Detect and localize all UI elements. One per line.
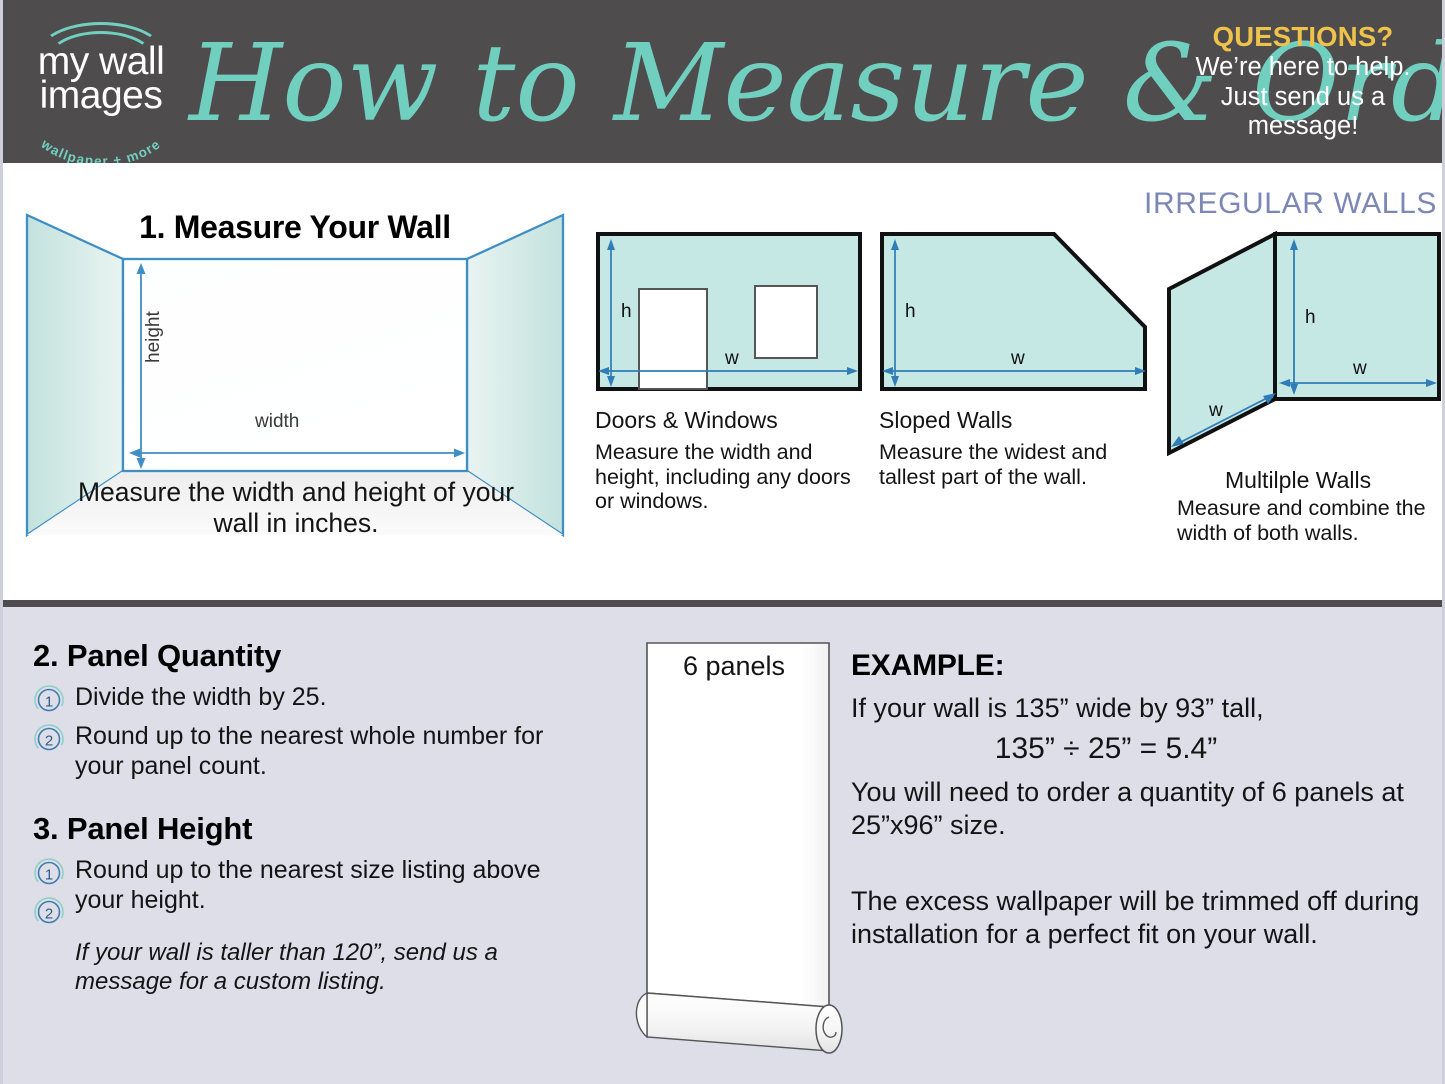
steps-2-and-3: 2. Panel Quantity 1 Divide the width by … xyxy=(33,639,593,997)
doors-windows-diagram-icon: h w xyxy=(595,231,863,401)
top-section: 1. Measure Your Wall height width Measur… xyxy=(3,163,1442,600)
svg-text:wallpaper + more: wallpaper + more xyxy=(38,136,164,163)
irregular-walls-heading: IRREGULAR WALLS xyxy=(1144,187,1437,221)
step-1-height-label: height xyxy=(143,311,165,363)
step-1-title: 1. Measure Your Wall xyxy=(19,209,571,246)
example-paragraph-1: You will need to order a quantity of 6 p… xyxy=(851,776,1421,841)
number-badge-icon: 2 xyxy=(33,896,65,928)
logo-line-2: images xyxy=(21,76,181,115)
multiple-walls-h-label: h xyxy=(1305,307,1316,328)
list-item: 2 xyxy=(33,894,593,928)
example-line-1: If your wall is 135” wide by 93” tall, xyxy=(851,692,1421,724)
step-3-note: If your wall is taller than 120”, send u… xyxy=(75,938,593,997)
header-bar: my wall images wallpaper + more How to M… xyxy=(3,0,1445,163)
spacer xyxy=(33,786,593,812)
page-title: How to Measure & Order xyxy=(189,8,1179,153)
irregular-walls-group: IRREGULAR WALLS xyxy=(583,179,1443,569)
step-2-list: 1 Divide the width by 25. 2 Round up to … xyxy=(33,682,593,781)
list-item: 2 Round up to the nearest whole number f… xyxy=(33,721,593,781)
multiple-walls-w-front-label: w xyxy=(1352,358,1367,379)
step-2-title: 2. Panel Quantity xyxy=(33,639,593,673)
multiple-walls-w-side-label: w xyxy=(1208,400,1223,421)
irregular-card-title: Doors & Windows xyxy=(595,407,863,434)
irregular-card-desc: Measure the width and height, including … xyxy=(595,440,863,514)
irregular-card-multiple-walls: h w w Multilple Walls Measure and combin… xyxy=(1163,231,1443,545)
logo-tagline: wallpaper + more xyxy=(21,125,181,155)
example-equation: 135” ÷ 25” = 5.4” xyxy=(851,732,1421,766)
irregular-card-desc: Measure and combine the width of both wa… xyxy=(1177,496,1443,545)
sloped-wall-w-label: w xyxy=(1010,348,1025,369)
irregular-card-title: Sloped Walls xyxy=(879,407,1151,434)
brand-logo: my wall images wallpaper + more xyxy=(21,22,181,150)
wallpaper-roll-icon xyxy=(633,637,863,1067)
section-divider xyxy=(3,600,1442,607)
questions-body: We’re here to help. Just send us a messa… xyxy=(1174,53,1432,142)
step-1-width-label: width xyxy=(255,411,299,433)
number-badge-icon: 1 xyxy=(33,684,65,716)
number-badge-value: 1 xyxy=(45,867,53,884)
roll-panel-count-label: 6 panels xyxy=(633,651,835,682)
irregular-card-doors-windows: h w Doors & Windows Measure the width an… xyxy=(595,231,863,514)
step-3-list: 1 Round up to the nearest size listing a… xyxy=(33,855,593,928)
number-badge-value: 2 xyxy=(45,733,53,750)
number-badge-icon: 2 xyxy=(33,723,65,755)
spacer xyxy=(851,841,1421,875)
multiple-walls-diagram-icon: h w w xyxy=(1163,231,1443,461)
example-block: EXAMPLE: If your wall is 135” wide by 93… xyxy=(851,649,1421,950)
example-paragraph-2: The excess wallpaper will be trimmed off… xyxy=(851,885,1421,950)
questions-block: QUESTIONS? We’re here to help. Just send… xyxy=(1174,22,1432,142)
number-badge-value: 1 xyxy=(45,694,53,711)
logo-tagline-text: wallpaper + more xyxy=(38,136,164,163)
sloped-wall-diagram-icon: h w xyxy=(879,231,1151,401)
doors-windows-w-label: w xyxy=(724,348,739,369)
questions-heading: QUESTIONS? xyxy=(1174,22,1432,52)
irregular-card-sloped-walls: h w Sloped Walls Measure the widest and … xyxy=(879,231,1151,489)
list-item-text: Divide the width by 25. xyxy=(75,682,593,712)
irregular-card-desc: Measure the widest and tallest part of t… xyxy=(879,440,1151,489)
number-badge-icon: 1 xyxy=(33,857,65,889)
irregular-card-title: Multilple Walls xyxy=(1225,467,1443,494)
number-badge-value: 2 xyxy=(45,906,53,923)
list-item-text: Round up to the nearest whole number for… xyxy=(75,721,593,781)
wallpaper-roll-graphic: 6 panels xyxy=(633,637,863,1067)
step-3-title: 3. Panel Height xyxy=(33,812,593,846)
doors-windows-h-label: h xyxy=(621,301,632,322)
step-1-measure-wall: 1. Measure Your Wall height width Measur… xyxy=(19,185,571,563)
example-heading: EXAMPLE: xyxy=(851,649,1421,683)
list-item: 1 Divide the width by 25. xyxy=(33,682,593,716)
infographic-page: my wall images wallpaper + more How to M… xyxy=(0,0,1445,1084)
step-1-caption: Measure the width and height of your wal… xyxy=(61,477,531,539)
bottom-section: 2. Panel Quantity 1 Divide the width by … xyxy=(3,607,1442,1084)
sloped-wall-h-label: h xyxy=(905,301,916,322)
